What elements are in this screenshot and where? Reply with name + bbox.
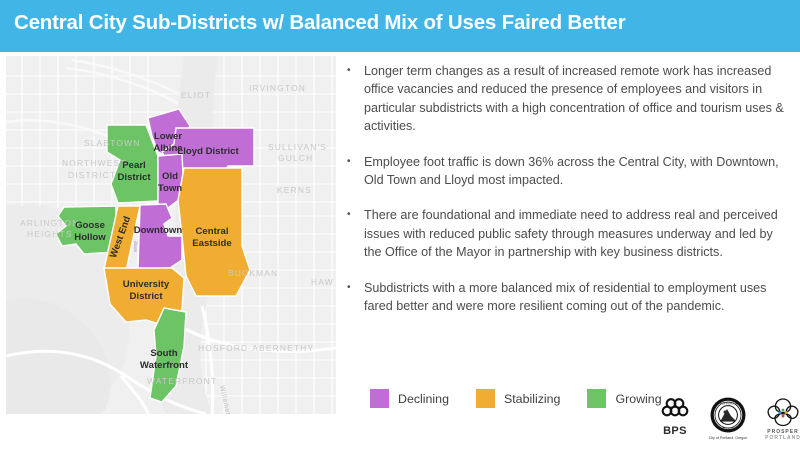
bg-label: SULLIVAN'S	[268, 142, 327, 152]
bg-label: BUCKMAN	[228, 268, 278, 278]
prosper-portland-logo: PROSPER PORTLAND	[761, 396, 800, 441]
district-label-lloyd-district: Lloyd District	[177, 146, 239, 157]
prosper-rose-icon	[761, 396, 800, 430]
legend-swatch-declining	[370, 389, 389, 408]
map-legend: Declining Stabilizing Growing	[370, 389, 662, 408]
bg-label: ELIOT	[181, 90, 211, 100]
bullet-text: Subdistricts with a more balanced mix of…	[364, 279, 785, 316]
bg-label: IRVINGTON	[249, 83, 306, 93]
city-seal-icon: CITY OF PORTLAND OREGON 1851	[705, 396, 751, 436]
bg-label: GULCH	[278, 153, 313, 163]
logo-strip: BPS CITY OF PORTLAND OREGON 1851 City o	[655, 396, 795, 446]
district-label-goose-hollow-2: Hollow	[74, 232, 106, 243]
legend-item-stabilizing: Stabilizing	[476, 389, 560, 408]
district-label-university-1: University	[123, 279, 170, 290]
bullet-text: Employee foot traffic is down 36% across…	[364, 153, 785, 190]
legend-item-growing: Growing	[587, 389, 661, 408]
district-label-goose-hollow-1: Goose	[75, 220, 105, 231]
bg-label: SLABTOWN	[84, 138, 140, 148]
district-label-central-eastside-2: Eastside	[192, 238, 231, 249]
city-of-portland-seal: CITY OF PORTLAND OREGON 1851 City of Por…	[705, 396, 751, 440]
bullet-item: • Subdistricts with a more balanced mix …	[345, 279, 785, 316]
legend-label-declining: Declining	[398, 392, 449, 406]
district-label-south-waterfront-1: South	[150, 348, 177, 359]
bullet-item: • There are foundational and immediate n…	[345, 206, 785, 261]
bg-label: HOSFORD-ABERNETHY	[198, 343, 314, 353]
legend-label-stabilizing: Stabilizing	[504, 392, 560, 406]
bullet-marker-icon: •	[345, 153, 364, 190]
bullet-item: • Longer term changes as a result of inc…	[345, 62, 785, 136]
bg-label: DISTRICT	[68, 170, 116, 180]
page-title: Central City Sub-Districts w/ Balanced M…	[14, 11, 625, 35]
bullet-text: There are foundational and immediate nee…	[364, 206, 785, 261]
city-seal-caption: City of Portland, Oregon	[705, 436, 751, 440]
bg-label: ARLINGTON	[20, 218, 80, 228]
district-label-old-town-2: Town	[158, 183, 182, 194]
bullet-marker-icon: •	[345, 206, 364, 261]
map-graphic: Portland IRVINGTON EL	[6, 56, 336, 414]
svg-text:OREGON 1851: OREGON 1851	[719, 427, 738, 431]
map-panel[interactable]: Portland IRVINGTON EL	[6, 56, 336, 414]
bullet-marker-icon: •	[345, 62, 364, 136]
legend-item-declining: Declining	[370, 389, 449, 408]
bg-label: BROOKLYN	[246, 412, 302, 414]
bg-label: NORTHWEST	[62, 158, 127, 168]
district-label-south-waterfront-2: Waterfront	[140, 360, 189, 371]
district-label-pearl-1: Pearl	[122, 160, 145, 171]
legend-swatch-stabilizing	[476, 389, 495, 408]
bg-label: HAW	[311, 277, 334, 287]
district-label-central-eastside-1: Central	[195, 226, 228, 237]
legend-swatch-growing	[587, 389, 606, 408]
bg-label: KERNS	[277, 185, 312, 195]
bullet-text: Longer term changes as a result of incre…	[364, 62, 785, 136]
district-label-pearl-2: District	[117, 172, 151, 183]
bps-logo: BPS	[655, 396, 695, 437]
district-label-old-town-1: Old	[162, 171, 178, 182]
district-label-lower-albina-1: Lower	[154, 131, 183, 142]
bullet-list: • Longer term changes as a result of inc…	[345, 62, 785, 332]
bg-label: WATERFRONT	[147, 376, 217, 386]
bg-label: HEIGHTS	[27, 229, 73, 239]
svg-text:CITY OF PORTLAND: CITY OF PORTLAND	[716, 402, 741, 406]
slide-root: Central City Sub-Districts w/ Balanced M…	[0, 0, 800, 450]
district-label-university-2: District	[129, 291, 163, 302]
district-label-downtown: Downtown	[134, 225, 183, 236]
bullet-marker-icon: •	[345, 279, 364, 316]
bullet-item: • Employee foot traffic is down 36% acro…	[345, 153, 785, 190]
prosper-caption-line2: PORTLAND	[761, 435, 800, 441]
